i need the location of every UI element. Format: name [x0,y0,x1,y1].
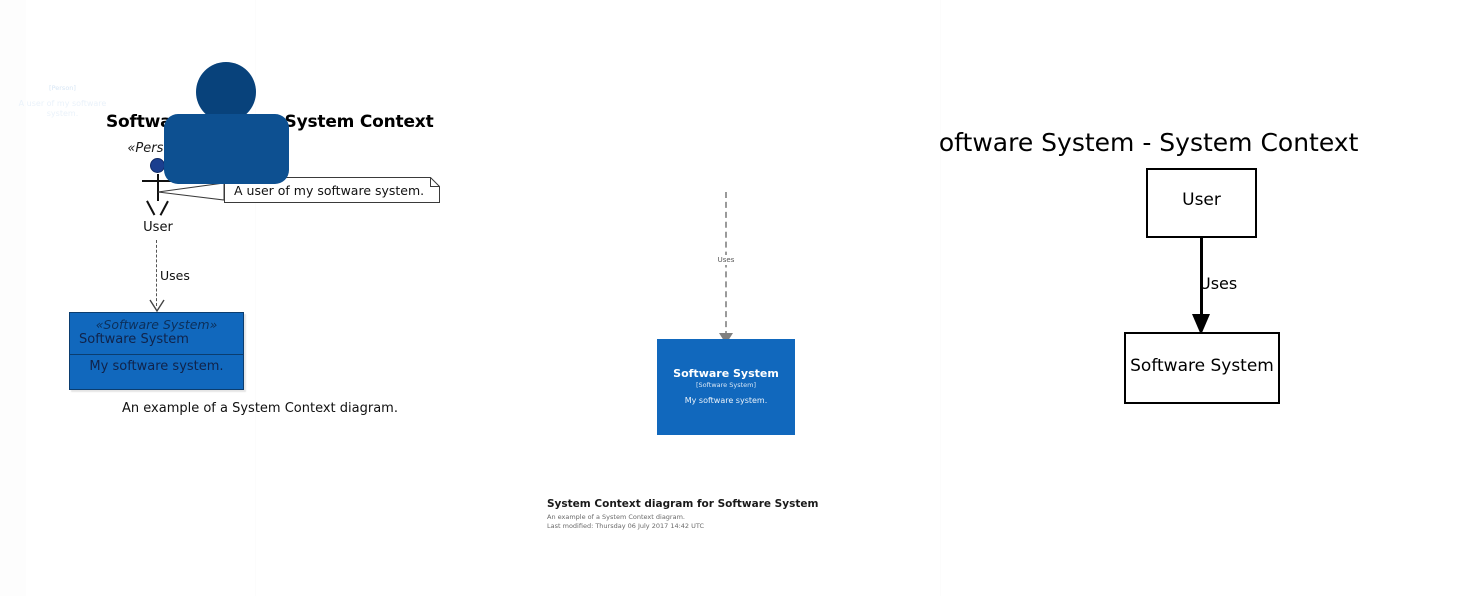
right-title-clip-region: Software System - System Context [940,126,1459,160]
actor-name-label: User [118,220,198,235]
c4-software-system-tag: [Software System] [657,381,795,389]
left-uses-dashed-line [156,240,157,306]
actor-right-leg-icon [160,201,169,216]
c4-software-system-name: Software System [657,367,795,380]
left-software-system-description: My software system. [70,355,243,390]
c4-person-head-icon [196,62,256,122]
right-diagram-title: Software System - System Context [940,126,1459,160]
actor-left-leg-icon [146,201,155,216]
c4-caption-subtitle: An example of a System Context diagram. [547,513,685,521]
actor-head-icon [150,158,165,173]
left-diagram-caption: An example of a System Context diagram. [60,401,460,416]
right-software-system-label: Software System [1122,356,1282,376]
left-software-system-box: «Software System» Software System My sof… [69,312,244,390]
right-user-label: User [1146,190,1257,210]
diagram-comparison-canvas: Software System - System Context «Person… [0,0,1459,596]
c4-person-name: User [0,70,125,83]
right-uses-label: Uses [1199,274,1237,293]
left-software-system-stereotype: «Software System» [70,317,243,332]
left-software-system-name: Software System [70,332,243,348]
c4-person-icon [164,62,289,192]
left-open-arrowhead-icon [149,298,165,312]
left-software-system-header: «Software System» Software System [70,313,243,355]
c4-caption-title: System Context diagram for Software Syst… [547,498,818,510]
c4-uses-label: Uses [700,255,752,265]
c4-person-description: A user of my software system. [4,99,121,119]
c4-person-tag: [Person] [0,84,125,92]
c4-software-system-description: My software system. [657,396,795,405]
left-uses-label: Uses [160,268,190,283]
c4-person-body-icon [164,114,289,184]
c4-caption-last-modified: Last modified: Thursday 06 July 2017 14:… [547,522,704,530]
